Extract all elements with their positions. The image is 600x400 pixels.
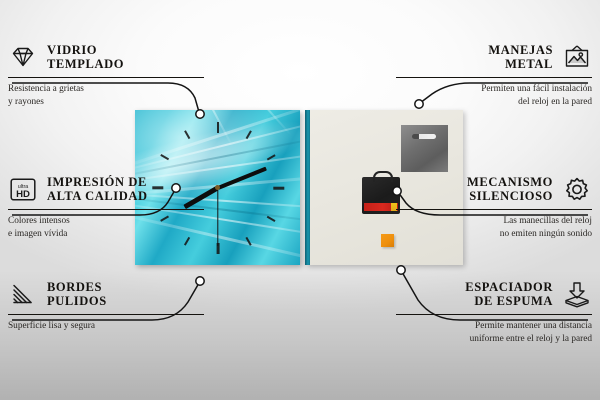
feature-impresion-alta-calidad: ultra HD IMPRESIÓN DE ALTA CALIDAD Color… [8,172,204,240]
feature-header: ultra HD IMPRESIÓN DE ALTA CALIDAD [8,172,204,206]
feature-divider [396,209,592,210]
product-infographic: VIDRIO TEMPLADO Resistencia a grietas y … [0,0,600,400]
feature-divider [8,314,204,315]
picture-frame-hanging-icon [562,42,592,72]
mechanism-hook [373,171,393,182]
polished-edge-icon [8,279,38,309]
foam-spacer [381,234,394,247]
feature-subtitle: Resistencia a grietas y rayones [8,83,204,108]
feature-subtitle: Superficie lisa y segura [8,320,204,333]
hanger-slot [412,134,436,139]
ultra-hd-badge-icon: ultra HD [8,174,38,204]
mechanism-label [364,203,398,211]
clock-tick [273,186,284,189]
feature-espaciador-espuma: ESPACIADOR DE ESPUMA Permite mantener un… [396,277,592,345]
feature-title: MECANISMO SILENCIOSO [467,175,553,204]
feature-title: BORDES PULIDOS [47,280,107,309]
feature-title: ESPACIADOR DE ESPUMA [465,280,553,309]
clock-center-cap [215,185,220,190]
feature-divider [8,209,204,210]
foam-spacer-arrow-icon [562,279,592,309]
feature-subtitle: Permiten una fácil instalación del reloj… [396,83,592,108]
feature-header: BORDES PULIDOS [8,277,204,311]
feature-header: MANEJAS METAL [396,40,592,74]
feature-subtitle: Permite mantener una distancia uniforme … [396,320,592,345]
clock-tick [217,122,220,133]
feature-subtitle: Colores intensos e imagen vívida [8,215,204,240]
feature-subtitle: Las manecillas del reloj no emiten ningú… [396,215,592,240]
gear-icon [562,174,592,204]
clock-second-hand [217,188,218,246]
clock-mechanism [362,177,400,214]
feature-header: VIDRIO TEMPLADO [8,40,204,74]
diamond-icon [8,42,38,72]
panel-edge [305,110,310,265]
feature-divider [396,77,592,78]
feature-bordes-pulidos: BORDES PULIDOS Superficie lisa y segura [8,277,204,333]
metal-hanger-plate [401,125,448,172]
connector-node [397,266,405,274]
feature-vidrio-templado: VIDRIO TEMPLADO Resistencia a grietas y … [8,40,204,108]
feature-title: MANEJAS METAL [488,43,553,72]
feature-title: VIDRIO TEMPLADO [47,43,124,72]
feature-divider [8,77,204,78]
svg-text:HD: HD [16,189,30,200]
feature-mecanismo-silencioso: MECANISMO SILENCIOSO Las manecillas del … [396,172,592,240]
feature-divider [396,314,592,315]
feature-title: IMPRESIÓN DE ALTA CALIDAD [47,175,148,204]
feature-manejas-metal: MANEJAS METAL Permiten una fácil instala… [396,40,592,108]
feature-header: MECANISMO SILENCIOSO [396,172,592,206]
feature-header: ESPACIADOR DE ESPUMA [396,277,592,311]
